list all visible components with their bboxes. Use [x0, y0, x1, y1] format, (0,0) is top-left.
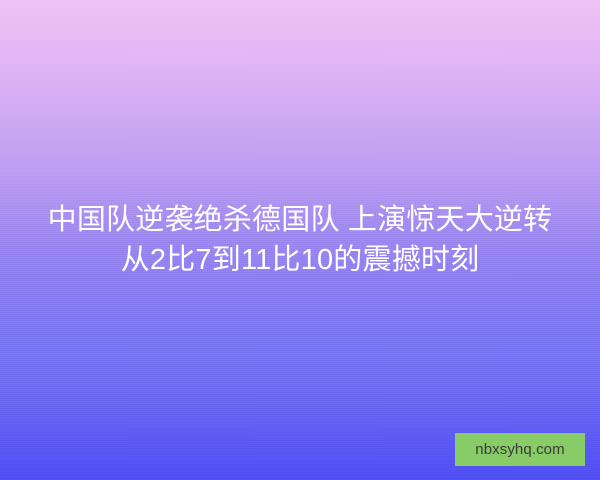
- headline-line-1: 中国队逆袭绝杀德国队 上演惊天大逆转: [0, 200, 600, 240]
- watermark-label: nbxsyhq.com: [475, 442, 564, 457]
- page-title: 中国队逆袭绝杀德国队 上演惊天大逆转 从2比7到11比10的震撼时刻: [0, 200, 600, 280]
- headline-line-2: 从2比7到11比10的震撼时刻: [0, 240, 600, 280]
- watermark-badge: nbxsyhq.com: [455, 433, 585, 466]
- cover-image: 中国队逆袭绝杀德国队 上演惊天大逆转 从2比7到11比10的震撼时刻 nbxsy…: [0, 0, 600, 480]
